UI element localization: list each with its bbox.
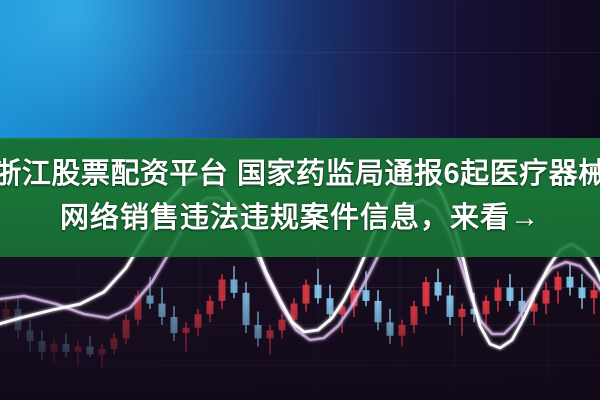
header-scanline-overlay [0, 0, 600, 140]
header-glow-backdrop [0, 0, 600, 140]
caption-band: 浙江股票配资平台 国家药监局通报6起医疗器械 网络销售违法违规案件信息，来看→ [0, 138, 600, 257]
caption-line-2: 网络销售违法违规案件信息，来看→ [60, 196, 540, 240]
caption-line-1: 浙江股票配资平台 国家药监局通报6起医疗器械 [0, 152, 600, 196]
banner-image: 浙江股票配资平台 国家药监局通报6起医疗器械 网络销售违法违规案件信息，来看→ [0, 0, 600, 400]
